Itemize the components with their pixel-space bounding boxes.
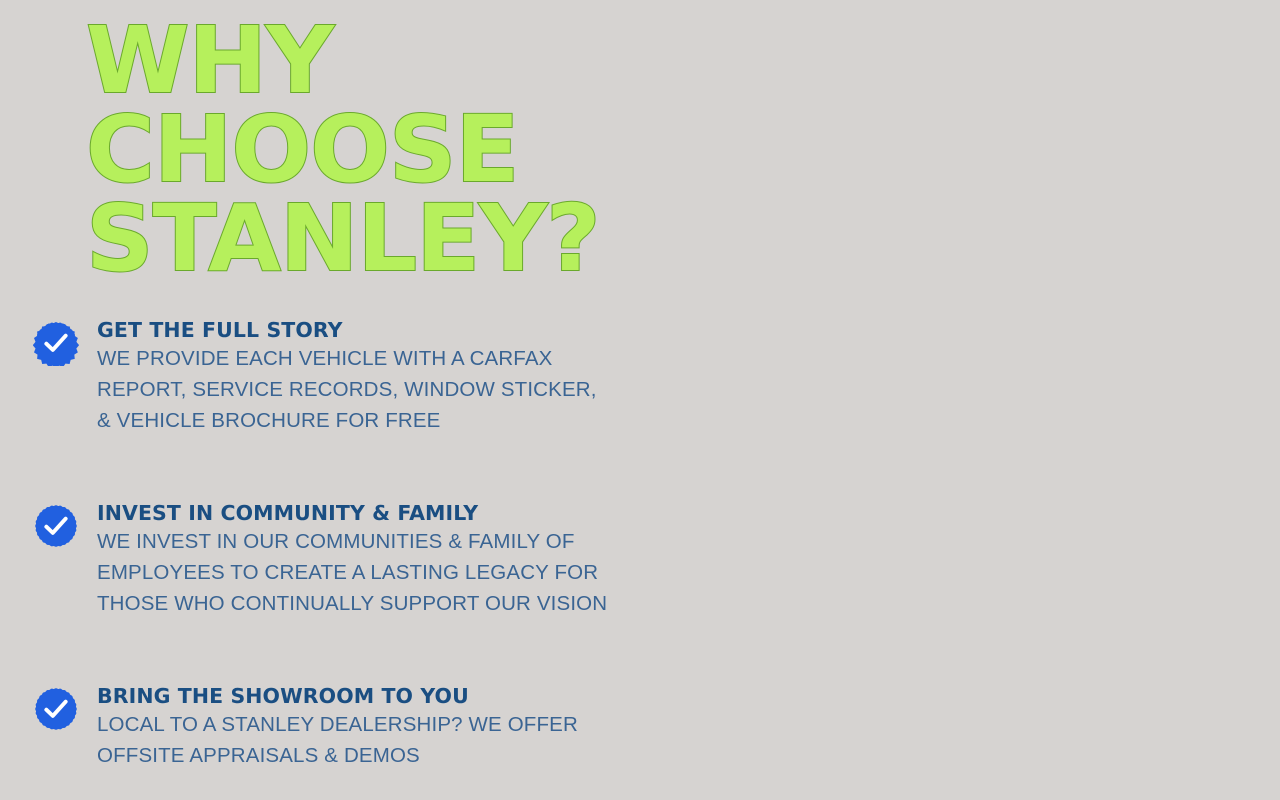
poster-root: WHY CHOOSE STANLEY? GET THE FULL STORY W…	[0, 0, 1280, 800]
page-title: WHY CHOOSE STANLEY?	[86, 16, 606, 284]
feature-heading: GET THE FULL STORY	[89, 318, 608, 343]
feature-body: LOCAL TO A STANLEY DEALERSHIP? WE OFFER …	[89, 710, 608, 772]
feature-heading: INVEST IN COMMUNITY & FAMILY	[89, 501, 608, 526]
verified-check-badge-icon	[33, 503, 79, 549]
hero-line-2: CHOOSE	[86, 105, 616, 194]
right-column: NO HIDDEN DEALER FEES NO ADDENDUMS, ADD …	[640, 0, 1280, 800]
left-column: WHY CHOOSE STANLEY? GET THE FULL STORY W…	[0, 0, 640, 800]
hero-line-3: STANLEY?	[86, 194, 616, 283]
feature-heading: BRING THE SHOWROOM TO YOU	[89, 684, 608, 709]
hero-line-1: WHY	[86, 16, 616, 105]
feature-text: BRING THE SHOWROOM TO YOU LOCAL TO A STA…	[89, 684, 608, 772]
feature-text: INVEST IN COMMUNITY & FAMILY WE INVEST I…	[89, 501, 608, 619]
feature-text: GET THE FULL STORY WE PROVIDE EACH VEHIC…	[89, 318, 608, 436]
feature-bring-the-showroom-to-you: BRING THE SHOWROOM TO YOU LOCAL TO A STA…	[33, 684, 608, 772]
feature-invest-in-community-and-family: INVEST IN COMMUNITY & FAMILY WE INVEST I…	[33, 501, 608, 619]
verified-check-badge-icon	[33, 320, 79, 366]
feature-get-the-full-story: GET THE FULL STORY WE PROVIDE EACH VEHIC…	[33, 318, 608, 436]
verified-check-badge-icon	[33, 686, 79, 732]
feature-body: WE INVEST IN OUR COMMUNITIES & FAMILY OF…	[89, 527, 608, 619]
feature-body: WE PROVIDE EACH VEHICLE WITH A CARFAX RE…	[89, 344, 608, 436]
